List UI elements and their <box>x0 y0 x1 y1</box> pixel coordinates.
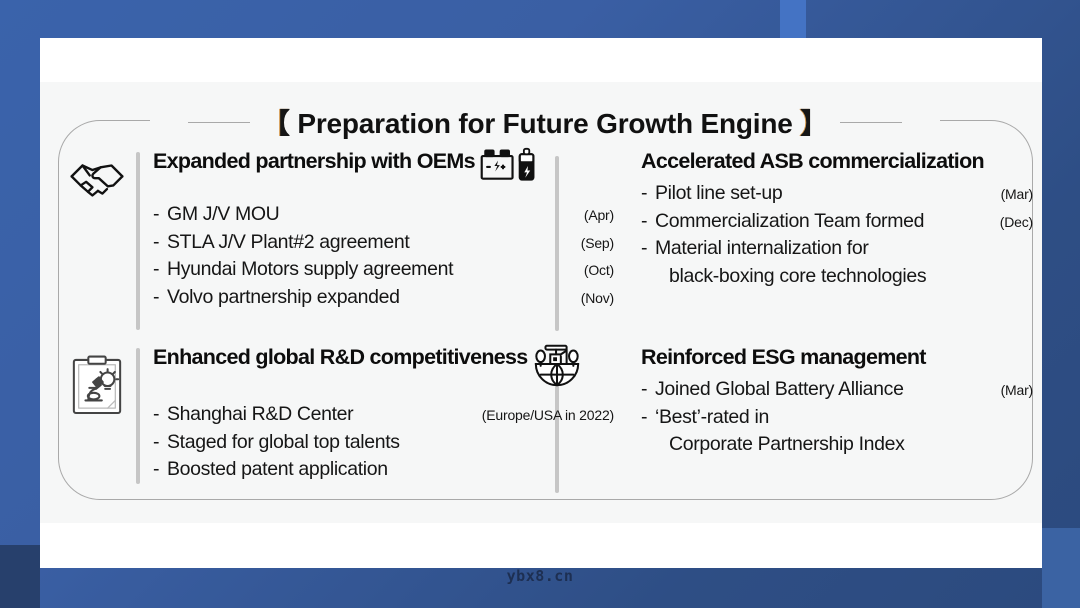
bullet-dash: - <box>153 201 167 229</box>
partnership-text-block: Expanded partnership with OEMs <box>140 148 614 312</box>
bullet-tag: (Nov) <box>581 289 614 309</box>
bullet-text: STLA J/V Plant#2 agreement <box>167 229 576 257</box>
bullet-dash: - <box>641 404 655 432</box>
watermark: ybx8.cn <box>0 567 1080 585</box>
list-item: - Staged for global top talents <box>153 429 614 457</box>
bullet-continuation: black-boxing core technologies <box>655 263 926 291</box>
esg-text-block: Reinforced ESG management - Joined Globa… <box>628 344 1033 459</box>
bullet-dash: - <box>641 180 655 208</box>
quadrant-esg: Reinforced ESG management - Joined Globa… <box>614 344 1033 498</box>
list-item: - Hyundai Motors supply agreement (Oct) <box>153 256 614 284</box>
bullet-tag: (Oct) <box>584 261 614 281</box>
quadrant-heading-asb: Accelerated ASB commercialization <box>641 149 984 173</box>
list-item: - STLA J/V Plant#2 agreement (Sep) <box>153 229 614 257</box>
asb-heading-row: Accelerated ASB commercialization <box>641 149 1033 173</box>
partnership-bullet-list: - GM J/V MOU (Apr) - STLA J/V Plant#2 ag… <box>153 201 614 312</box>
bullet-tag: (Apr) <box>584 206 614 226</box>
bullet-text: Commercialization Team formed <box>655 208 995 236</box>
bullet-text: Volvo partnership expanded <box>167 284 576 312</box>
bullet-continuation: Corporate Partnership Index <box>655 431 905 459</box>
bullet-text: ‘Best’-rated in <box>655 406 769 428</box>
bullet-dash: - <box>641 208 655 236</box>
quadrant-asb: Accelerated ASB commercialization - Pilo… <box>614 148 1033 344</box>
bullet-tag: (Mar) <box>1001 381 1033 401</box>
bullet-text: Staged for global top talents <box>167 429 609 457</box>
asb-text-block: Accelerated ASB commercialization - Pilo… <box>628 148 1033 291</box>
list-item: - Shanghai R&D Center (Europe/USA in 202… <box>153 401 614 429</box>
quadrant-heading-esg: Reinforced ESG management <box>641 345 926 369</box>
asb-icon-spacer <box>614 148 628 158</box>
partnership-heading-row: Expanded partnership with OEMs <box>153 149 614 194</box>
bullet-dash: - <box>153 401 167 429</box>
list-item: - Boosted patent application <box>153 456 614 484</box>
esg-bullet-list: - Joined Global Battery Alliance (Mar) -… <box>641 376 1033 459</box>
rnd-text-block: Enhanced global R&D competitiveness <box>140 344 614 484</box>
list-item: - Joined Global Battery Alliance (Mar) <box>641 376 1033 404</box>
bullet-text-wrap: ‘Best’-rated in Corporate Partnership In… <box>655 404 905 459</box>
bullet-text-wrap: Material internalization for black-boxin… <box>655 235 926 290</box>
rnd-bullet-list: - Shanghai R&D Center (Europe/USA in 202… <box>153 401 614 484</box>
bullet-dash: - <box>153 256 167 284</box>
page-title: 【 Preparation for Future Growth Engine 】 <box>262 102 828 142</box>
handshake-icon <box>58 148 136 202</box>
esg-icon-spacer <box>614 344 628 354</box>
bullet-text: GM J/V MOU <box>167 201 579 229</box>
bullet-dash: - <box>153 456 167 484</box>
microscope-clipboard-icon <box>58 344 136 416</box>
rnd-heading-row: Enhanced global R&D competitiveness <box>153 345 614 394</box>
title-rule-left <box>188 122 250 123</box>
battery-icon <box>479 143 537 194</box>
quadrant-partnership: Expanded partnership with OEMs <box>58 148 614 344</box>
esg-heading-row: Reinforced ESG management <box>641 345 1033 369</box>
bullet-dash: - <box>641 235 655 263</box>
bullet-dash: - <box>153 284 167 312</box>
bullet-tag: (Sep) <box>581 234 614 254</box>
list-item: - Volvo partnership expanded (Nov) <box>153 284 614 312</box>
list-item: - Material internalization for black-box… <box>641 235 1033 290</box>
slide-root: 【 Preparation for Future Growth Engine 】 <box>0 0 1080 608</box>
quadrant-heading-rnd: Enhanced global R&D competitiveness <box>153 345 528 369</box>
title-rule-right <box>840 122 902 123</box>
quadrant-rnd: Enhanced global R&D competitiveness <box>58 344 614 498</box>
bullet-dash: - <box>153 229 167 257</box>
asb-bullet-list: - Pilot line set-up (Mar) - Commercializ… <box>641 180 1033 291</box>
globe-icon <box>532 339 582 394</box>
bullet-text: Joined Global Battery Alliance <box>655 376 996 404</box>
list-item: - GM J/V MOU (Apr) <box>153 201 614 229</box>
bullet-tag: (Dec) <box>1000 213 1033 233</box>
list-item: - Pilot line set-up (Mar) <box>641 180 1033 208</box>
quadrant-heading-partnership: Expanded partnership with OEMs <box>153 149 475 173</box>
bullet-tag: (Europe/USA in 2022) <box>482 406 614 426</box>
bullet-tag: (Mar) <box>1001 185 1033 205</box>
list-item: - ‘Best’-rated in Corporate Partnership … <box>641 404 1033 459</box>
quadrant-grid: Expanded partnership with OEMs <box>58 148 1033 498</box>
slide-title-bar: 【 Preparation for Future Growth Engine 】 <box>150 101 940 143</box>
bullet-text: Material internalization for <box>655 237 868 259</box>
bullet-text: Shanghai R&D Center <box>167 401 477 429</box>
bullet-dash: - <box>153 429 167 457</box>
bullet-text: Boosted patent application <box>167 456 609 484</box>
bullet-text: Hyundai Motors supply agreement <box>167 256 579 284</box>
bullet-text: Pilot line set-up <box>655 180 996 208</box>
bullet-dash: - <box>641 376 655 404</box>
list-item: - Commercialization Team formed (Dec) <box>641 208 1033 236</box>
